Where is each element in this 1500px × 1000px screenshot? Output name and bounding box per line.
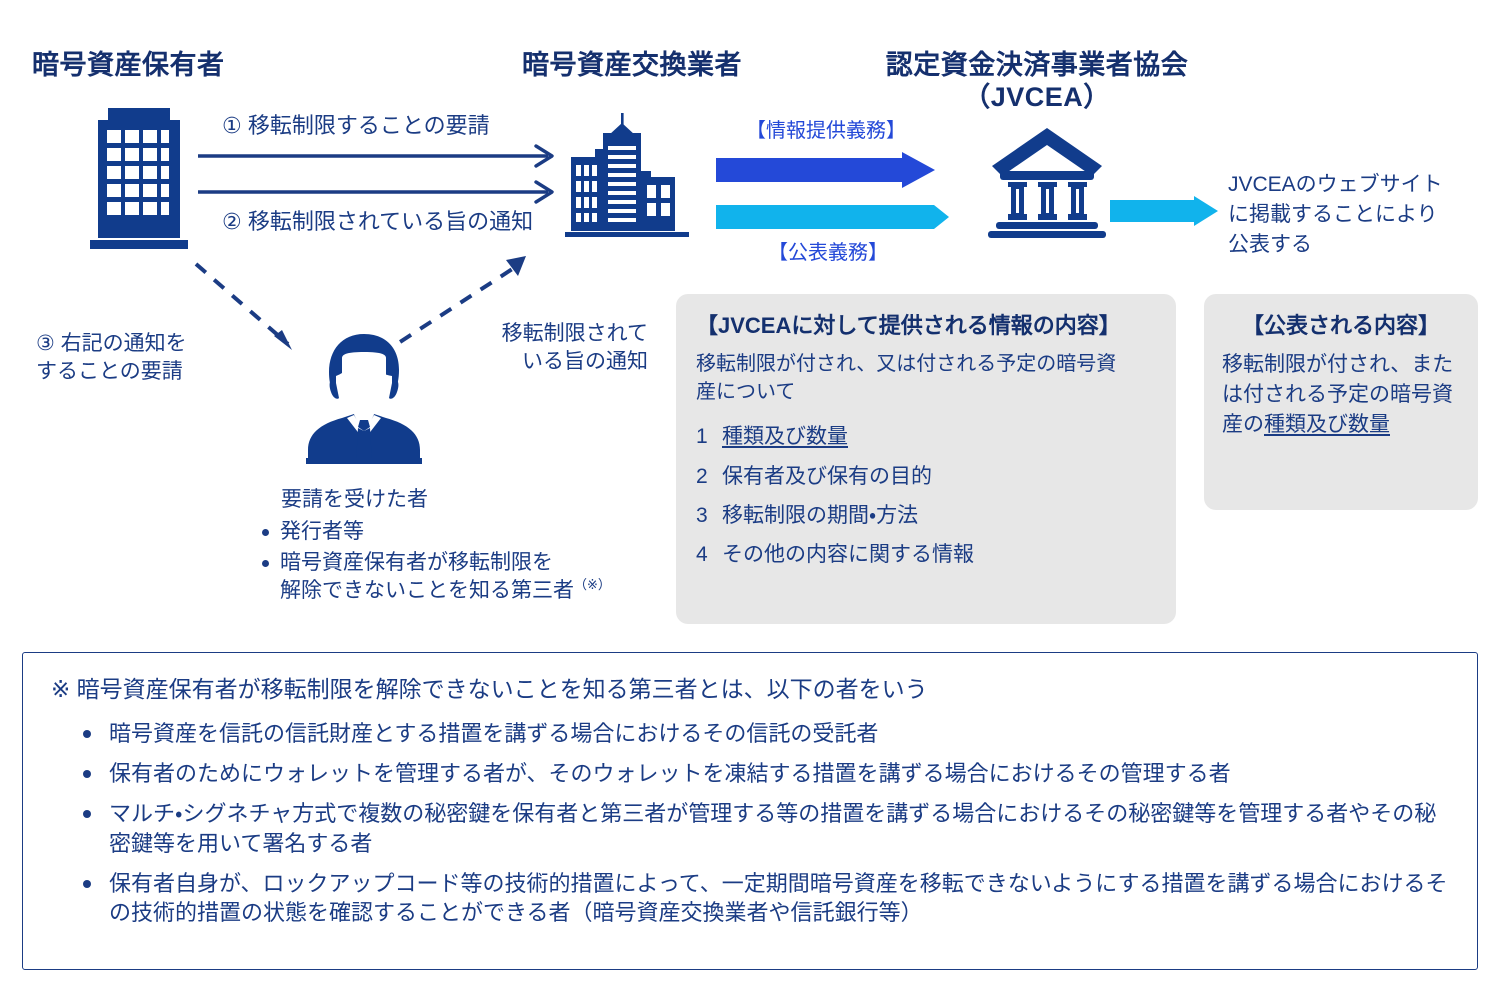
jvcea-title-line1: 認定資金決済事業者協会 [886,50,1189,80]
panel-published-body-underlined: 種類及び数量 [1264,413,1390,436]
arrow-information-duty [716,152,938,188]
arrow-publication-duty [716,203,952,231]
person-caption-title: 要請を受けた者 [281,486,428,513]
footnote-box: ※ 暗号資産保有者が移転制限を解除できないことを知る第三者とは、以下の者をいう … [22,652,1478,970]
panel-published-content: 【公表される内容】 移転制限が付され、または付される予定の暗号資産の種類及び数量 [1204,294,1478,510]
panel-info-body-line2: 産について [696,381,795,403]
step3-line2: することの要請 [36,360,183,383]
person-item-1-line2: 解除できないことを知る第三者 [280,579,574,602]
duty-label-publication: 【公表義務】 [768,240,888,266]
item-text: 保有者及び保有の目的 [722,464,932,490]
diagram-canvas: 暗号資産保有者 暗号資産交換業者 認定資金決済事業者協会 （JVCEA） ① 移… [0,0,1500,1000]
flow-label-step2: ② 移転制限されている旨の通知 [222,208,533,237]
bank-institution-icon [986,124,1108,238]
flow-arrows-holder-to-exchange [196,144,564,214]
footnote-item-0: 暗号資産を信託の信託財産とする措置を講ずる場合におけるその信託の受託者 [109,721,878,746]
column-title-jvcea: 認定資金決済事業者協会 （JVCEA） [882,50,1192,114]
item-text: 種類及び数量 [722,424,848,450]
item-text: その他の内容に関する情報 [722,542,974,568]
footnote-item-3: 保有者自身が、ロックアップコード等の技術的措置によって、一定期間暗号資産を移転で… [109,871,1448,925]
list-item: 発行者等 [258,518,658,545]
footnote-list: 暗号資産を信託の信託財産とする措置を講ずる場合におけるその信託の受託者 保有者の… [49,719,1451,928]
panel-info-body-line1: 移転制限が付され、又は付される予定の暗号資 [696,353,1116,375]
person-role-list: 発行者等 暗号資産保有者が移転制限を 解除できないことを知る第三者（※） [258,518,658,608]
column-title-holder: 暗号資産保有者 [32,50,225,82]
person-item-0: 発行者等 [280,520,364,543]
item-number: 2 [696,464,722,490]
panel-published-heading: 【公表される内容】 [1222,312,1460,340]
item-text: 移転制限の期間・方法 [722,503,918,529]
flow-label-step3: ③ 右記の通知を することの要請 [36,330,187,387]
list-item: 3 移転制限の期間・方法 [696,503,1156,529]
notice-line2: いる旨の通知 [522,350,648,373]
dashed-arrow-to-person-line [196,264,288,344]
list-item: 保有者のためにウォレットを管理する者が、そのウォレットを凍結する措置を講ずる場合… [83,759,1451,788]
item-number: 3 [696,503,722,529]
panel-published-body: 移転制限が付され、または付される予定の暗号資産の種類及び数量 [1222,350,1460,441]
list-item: 1 種類及び数量 [696,424,1156,450]
website-publication-note: JVCEAのウェブサイト に掲載することにより 公表する [1228,170,1493,259]
office-building-icon [84,104,200,252]
flow-label-restriction-notice: 移転制限されて いる旨の通知 [430,320,648,377]
flow-label-step1: ① 移転制限することの要請 [222,112,490,141]
footnote-item-1: 保有者のためにウォレットを管理する者が、そのウォレットを凍結する措置を講ずる場合… [109,761,1231,786]
arrow-publish-to-website [1110,196,1220,226]
duty-label-information: 【情報提供義務】 [746,118,906,144]
footnote-heading: ※ 暗号資産保有者が移転制限を解除できないことを知る第三者とは、以下の者をいう [51,675,1451,705]
website-note-line2: に掲載することにより [1228,203,1438,226]
list-item: 保有者自身が、ロックアップコード等の技術的措置によって、一定期間暗号資産を移転で… [83,869,1451,928]
list-item: 2 保有者及び保有の目的 [696,464,1156,490]
jvcea-title-line2: （JVCEA） [963,82,1111,112]
footnote-marker: （※） [574,577,611,592]
list-item: 暗号資産を信託の信託財産とする措置を講ずる場合におけるその信託の受託者 [83,719,1451,748]
list-item: 4 その他の内容に関する情報 [696,542,1156,568]
person-item-1-line1: 暗号資産保有者が移転制限を [280,551,553,574]
panel-information-items: 1 種類及び数量 2 保有者及び保有の目的 3 移転制限の期間・方法 4 その他… [696,424,1156,568]
panel-information-body: 移転制限が付され、又は付される予定の暗号資 産について [696,350,1156,407]
website-note-line1: JVCEAのウェブサイト [1228,173,1443,196]
businessperson-icon [302,332,426,464]
panel-information-provided: 【JVCEAに対して提供される情報の内容】 移転制限が付され、又は付される予定の… [676,294,1176,624]
item-number: 4 [696,542,722,568]
notice-line1: 移転制限されて [502,322,648,345]
list-item: マルチ・シグネチャ方式で複数の秘密鍵を保有者と第三者が管理する等の措置を講ずる場… [83,799,1451,858]
item-number: 1 [696,424,722,450]
footnote-item-2: マルチ・シグネチャ方式で複数の秘密鍵を保有者と第三者が管理する等の措置を講ずる場… [109,801,1436,855]
list-item: 暗号資産保有者が移転制限を 解除できないことを知る第三者（※） [258,549,658,604]
city-buildings-icon [565,113,695,249]
step3-line1: ③ 右記の通知を [36,332,187,355]
website-note-line3: 公表する [1228,233,1312,256]
column-title-exchange: 暗号資産交換業者 [522,50,742,82]
panel-information-heading: 【JVCEAに対して提供される情報の内容】 [696,312,1156,340]
